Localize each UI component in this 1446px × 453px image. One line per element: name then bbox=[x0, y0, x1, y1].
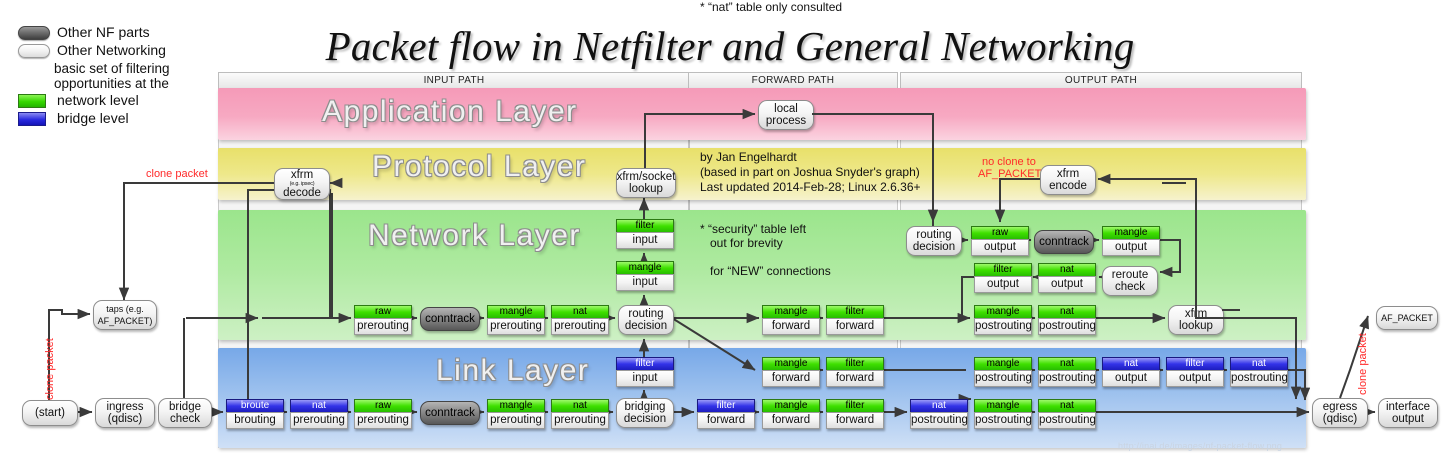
chain-box-table-in-link-filter-input: filter bbox=[616, 357, 674, 370]
edge-broute-up bbox=[248, 190, 274, 399]
node-label-xfrm-decode-line1: xfrm bbox=[291, 169, 313, 181]
edge-routing-to-mangleforward-link bbox=[672, 318, 755, 370]
chain-box-out-link-filter-output: filteroutput bbox=[1166, 357, 1224, 387]
node-label-routing-decision-input-line2: decision bbox=[625, 320, 667, 332]
chain-box-chain-out-net-nat-postrouting: postrouting bbox=[1038, 318, 1096, 335]
chain-box-table-in-link-raw-prerouting: raw bbox=[354, 399, 412, 412]
chain-box-chain-out-net-nat-output: output bbox=[1038, 276, 1096, 293]
node-label-local-process-line1: local bbox=[774, 103, 798, 115]
node-conntrack-input-net: conntrack bbox=[420, 307, 480, 331]
chain-box-chain-fw-net-filter-forward: forward bbox=[826, 318, 884, 335]
node-label-taps-af-packet-line1: taps (e.g. bbox=[106, 303, 144, 315]
chain-box-in-link-mangle-prerouting: mangleprerouting bbox=[487, 399, 545, 429]
chain-box-fw-br-filter-forward: filterforward bbox=[697, 399, 755, 429]
node-local-process: localprocess bbox=[758, 100, 814, 130]
node-xfrm-socket-lookup: xfrm/socketlookup bbox=[616, 168, 676, 198]
chain-box-out-net-nat-output: natoutput bbox=[1038, 263, 1096, 293]
chain-box-chain-out-net-raw-output: output bbox=[971, 239, 1029, 256]
node-routing-decision-output: routingdecision bbox=[906, 226, 962, 256]
chain-box-out-net-mangle-postrouting: manglepostrouting bbox=[974, 305, 1032, 335]
attribution-line2: (based in part on Joshua Snyder's graph) bbox=[700, 165, 920, 179]
chain-box-out-br-mangle-postrouting: manglepostrouting bbox=[974, 399, 1032, 429]
node-label-egress-qdisc-line1: egress bbox=[1323, 401, 1358, 413]
node-taps-af-packet: taps (e.g.AF_PACKET) bbox=[93, 300, 157, 330]
chain-box-chain-out-link-mangle-postrouting: postrouting bbox=[974, 370, 1032, 387]
chain-box-table-out-net-mangle-output: mangle bbox=[1102, 226, 1160, 239]
chain-box-chain-fw-br-mangle-forward: forward bbox=[762, 412, 820, 429]
chain-box-table-out-link-filter-output: filter bbox=[1166, 357, 1224, 370]
chain-box-table-in-net-mangle-prerouting: mangle bbox=[487, 305, 545, 318]
footnote-line1: * “security” table left bbox=[700, 222, 806, 236]
chain-box-chain-in-link-broute-brouting: brouting bbox=[226, 412, 284, 429]
chain-box-chain-out-link-nat-postrouting2: postrouting bbox=[1230, 370, 1288, 387]
chain-box-table-in-net-raw-prerouting: raw bbox=[354, 305, 412, 318]
chain-box-table-out-link-nat-postrouting2: nat bbox=[1230, 357, 1288, 370]
chain-box-in-net-filter-input: filterinput bbox=[616, 219, 674, 249]
node-label-bridge-check-line2: check bbox=[170, 413, 200, 425]
chain-box-in-link-filter-input: filterinput bbox=[616, 357, 674, 387]
node-label-routing-decision-output-line1: routing bbox=[916, 229, 951, 241]
chain-box-chain-out-link-nat-output: output bbox=[1102, 370, 1160, 387]
chain-box-chain-in-link-mangle-prerouting: prerouting bbox=[487, 412, 545, 429]
chain-box-in-link-raw-prerouting: rawprerouting bbox=[354, 399, 412, 429]
chain-box-chain-in-net-filter-input: input bbox=[616, 232, 674, 249]
chain-box-chain-in-link-nat-prerouting2: prerouting bbox=[551, 412, 609, 429]
node-label-egress-qdisc-line2: (qdisc) bbox=[1323, 413, 1358, 425]
chain-box-table-fw-br-filter-forward2: filter bbox=[826, 399, 884, 412]
chain-box-chain-fw-net-mangle-forward: forward bbox=[762, 318, 820, 335]
chain-box-in-net-mangle-input: mangleinput bbox=[616, 261, 674, 291]
chain-box-table-fw-net-filter-forward: filter bbox=[826, 305, 884, 318]
node-label-xfrm-socket-lookup-line2: lookup bbox=[629, 183, 663, 195]
chain-box-chain-out-net-filter-output: output bbox=[974, 276, 1032, 293]
chain-box-chain-in-net-mangle-prerouting: prerouting bbox=[487, 318, 545, 335]
node-label-reroute-check-line1: reroute bbox=[1112, 269, 1148, 281]
chain-box-table-out-net-mangle-postrouting: mangle bbox=[974, 305, 1032, 318]
chain-box-table-out-net-raw-output: raw bbox=[971, 226, 1029, 239]
node-label-xfrm-encode-line2: encode bbox=[1049, 180, 1087, 192]
node-label-bridging-decision-line2: decision bbox=[624, 413, 666, 425]
chain-box-table-in-link-mangle-prerouting: mangle bbox=[487, 399, 545, 412]
node-label-xfrm-decode-line2: decode bbox=[283, 187, 321, 199]
node-label-xfrm-lookup-line2: lookup bbox=[1179, 320, 1213, 332]
node-label-routing-decision-output-line2: decision bbox=[913, 241, 955, 253]
node-label-xfrm-encode-line1: xfrm bbox=[1057, 168, 1079, 180]
node-label-ingress-qdisc-line1: ingress bbox=[106, 401, 143, 413]
node-label-conntrack-output: conntrack bbox=[1039, 236, 1089, 248]
chain-box-out-br-nat-postrouting2: natpostrouting bbox=[1038, 399, 1096, 429]
chain-box-table-out-link-nat-output: nat bbox=[1102, 357, 1160, 370]
node-af-packet-out: AF_PACKET bbox=[1376, 306, 1438, 330]
chain-box-chain-out-br-nat-postrouting2: postrouting bbox=[1038, 412, 1096, 429]
chain-box-chain-out-br-nat-postrouting: postrouting bbox=[910, 412, 968, 429]
chain-box-table-fw-link-mangle-forward: mangle bbox=[762, 357, 820, 370]
node-egress-qdisc: egress(qdisc) bbox=[1312, 398, 1368, 428]
no-clone-label-line1: no clone to bbox=[982, 156, 1036, 168]
chain-box-out-link-nat-postrouting: natpostrouting bbox=[1038, 357, 1096, 387]
node-label-start: (start) bbox=[35, 407, 65, 419]
chain-box-fw-link-mangle-forward: mangleforward bbox=[762, 357, 820, 387]
chain-box-table-out-net-filter-output: filter bbox=[974, 263, 1032, 276]
chain-box-chain-in-link-nat-prerouting: prerouting bbox=[290, 412, 348, 429]
node-bridge-check: bridgecheck bbox=[158, 398, 212, 428]
attribution-line1: by Jan Engelhardt bbox=[700, 150, 797, 164]
footnote-line3: * “nat” table only consulted bbox=[700, 0, 842, 14]
node-reroute-check: reroutecheck bbox=[1102, 266, 1158, 296]
chain-box-table-in-link-nat-prerouting: nat bbox=[290, 399, 348, 412]
chain-box-fw-br-mangle-forward: mangleforward bbox=[762, 399, 820, 429]
chain-box-in-link-broute-brouting: broutebrouting bbox=[226, 399, 284, 429]
chain-box-chain-out-link-nat-postrouting: postrouting bbox=[1038, 370, 1096, 387]
chain-box-table-out-net-nat-postrouting: nat bbox=[1038, 305, 1096, 318]
chain-box-table-in-net-mangle-input: mangle bbox=[616, 261, 674, 274]
attribution-line3: Last updated 2014-Feb-28; Linux 2.6.36+ bbox=[700, 180, 921, 194]
chain-box-out-net-nat-postrouting: natpostrouting bbox=[1038, 305, 1096, 335]
chain-box-table-in-net-filter-input: filter bbox=[616, 219, 674, 232]
chain-box-chain-fw-link-mangle-forward: forward bbox=[762, 370, 820, 387]
chain-box-chain-fw-link-filter-forward: forward bbox=[826, 370, 884, 387]
node-interface-output: interfaceoutput bbox=[1378, 398, 1438, 428]
chain-box-chain-out-link-filter-output: output bbox=[1166, 370, 1224, 387]
edge-mangleoutput-to-reroute bbox=[1160, 240, 1180, 272]
chain-box-chain-fw-br-filter-forward2: forward bbox=[826, 412, 884, 429]
node-conntrack-input-link: conntrack bbox=[420, 401, 480, 425]
chain-box-in-link-nat-prerouting: natprerouting bbox=[290, 399, 348, 429]
chain-box-chain-out-net-mangle-output: output bbox=[1102, 239, 1160, 256]
node-label-interface-output-line2: output bbox=[1392, 413, 1424, 425]
chain-box-table-fw-link-filter-forward: filter bbox=[826, 357, 884, 370]
chain-box-fw-link-filter-forward: filterforward bbox=[826, 357, 884, 387]
chain-box-chain-fw-br-filter-forward: forward bbox=[697, 412, 755, 429]
node-xfrm-encode: xfrmencode bbox=[1040, 165, 1096, 195]
clone-packet-label-right: clone packet bbox=[1357, 333, 1369, 395]
node-xfrm-lookup: xfrmlookup bbox=[1168, 305, 1224, 335]
chain-box-out-net-filter-output: filteroutput bbox=[974, 263, 1032, 293]
chain-box-chain-in-net-nat-prerouting: prerouting bbox=[551, 318, 609, 335]
chain-box-chain-in-link-filter-input: input bbox=[616, 370, 674, 387]
chain-box-table-in-net-nat-prerouting: nat bbox=[551, 305, 609, 318]
edge-filteroutput-to-manglepostrouting bbox=[962, 277, 974, 318]
node-routing-decision-input: routingdecision bbox=[618, 305, 674, 335]
chain-box-out-link-mangle-postrouting: manglepostrouting bbox=[974, 357, 1032, 387]
node-bridging-decision: bridgingdecision bbox=[616, 398, 674, 428]
node-start: (start) bbox=[22, 400, 78, 426]
chain-box-in-net-raw-prerouting: rawprerouting bbox=[354, 305, 412, 335]
chain-box-table-out-br-mangle-postrouting: mangle bbox=[974, 399, 1032, 412]
chain-box-in-net-mangle-prerouting: mangleprerouting bbox=[487, 305, 545, 335]
chain-box-out-link-nat-postrouting2: natpostrouting bbox=[1230, 357, 1288, 387]
node-label-xfrm-lookup-line1: xfrm bbox=[1185, 308, 1207, 320]
chain-box-chain-in-net-raw-prerouting: prerouting bbox=[354, 318, 412, 335]
footnote-line2: out for brevity bbox=[700, 236, 783, 250]
node-label-local-process-line2: process bbox=[766, 115, 806, 127]
chain-box-out-net-raw-output: rawoutput bbox=[971, 226, 1029, 256]
edge-natpost-link-to-egress bbox=[1288, 370, 1305, 400]
chain-box-table-out-br-nat-postrouting: nat bbox=[910, 399, 968, 412]
node-xfrm-decode: xfrm(e.g. ipsec)decode bbox=[274, 168, 330, 200]
chain-box-chain-out-net-mangle-postrouting: postrouting bbox=[974, 318, 1032, 335]
clone-packet-label-top-left: clone packet bbox=[146, 168, 208, 180]
node-label-xfrm-socket-lookup-line1: xfrm/socket bbox=[617, 171, 676, 183]
diagram-canvas: INPUT PATH FORWARD PATH OUTPUT PATH Appl… bbox=[0, 0, 1446, 453]
node-label-reroute-check-line2: check bbox=[1115, 281, 1145, 293]
node-ingress-qdisc: ingress(qdisc) bbox=[95, 398, 155, 428]
node-label-ingress-qdisc-line2: (qdisc) bbox=[108, 413, 143, 425]
chain-box-table-out-link-nat-postrouting: nat bbox=[1038, 357, 1096, 370]
chain-box-chain-in-net-mangle-input: input bbox=[616, 274, 674, 291]
clone-packet-label-left: clone packet bbox=[44, 338, 56, 400]
chain-box-out-br-nat-postrouting: natpostrouting bbox=[910, 399, 968, 429]
chain-box-out-net-mangle-output: mangleoutput bbox=[1102, 226, 1160, 256]
chain-box-table-fw-br-filter-forward: filter bbox=[697, 399, 755, 412]
node-label-af-packet-out: AF_PACKET bbox=[1381, 312, 1433, 324]
node-label-conntrack-input-link: conntrack bbox=[425, 407, 475, 419]
chain-box-out-link-nat-output: natoutput bbox=[1102, 357, 1160, 387]
chain-box-fw-net-mangle-forward: mangleforward bbox=[762, 305, 820, 335]
chain-box-in-link-nat-prerouting2: natprerouting bbox=[551, 399, 609, 429]
node-label-routing-decision-input-line1: routing bbox=[628, 308, 663, 320]
footnote-line4: for “NEW” connections bbox=[700, 264, 831, 278]
chain-box-chain-in-link-raw-prerouting: prerouting bbox=[354, 412, 412, 429]
node-label-bridge-check-line1: bridge bbox=[169, 401, 201, 413]
chain-box-table-fw-br-mangle-forward: mangle bbox=[762, 399, 820, 412]
edge-netentry-to-xfrmdecode bbox=[320, 190, 330, 318]
chain-box-table-out-net-nat-output: nat bbox=[1038, 263, 1096, 276]
chain-box-in-net-nat-prerouting: natprerouting bbox=[551, 305, 609, 335]
node-conntrack-output: conntrack bbox=[1034, 230, 1094, 254]
chain-box-table-fw-net-mangle-forward: mangle bbox=[762, 305, 820, 318]
chain-box-table-out-br-nat-postrouting2: nat bbox=[1038, 399, 1096, 412]
chain-box-table-out-link-mangle-postrouting: mangle bbox=[974, 357, 1032, 370]
no-clone-label-line2: AF_PACKET bbox=[978, 168, 1041, 180]
chain-box-table-in-link-broute-brouting: broute bbox=[226, 399, 284, 412]
chain-box-table-in-link-nat-prerouting2: nat bbox=[551, 399, 609, 412]
node-label-bridging-decision-line1: bridging bbox=[625, 401, 666, 413]
chain-box-chain-out-br-mangle-postrouting: postrouting bbox=[974, 412, 1032, 429]
chain-box-fw-net-filter-forward: filterforward bbox=[826, 305, 884, 335]
node-label-conntrack-input-net: conntrack bbox=[425, 313, 475, 325]
node-label-taps-af-packet-line2: AF_PACKET) bbox=[98, 315, 153, 327]
chain-box-fw-br-filter-forward2: filterforward bbox=[826, 399, 884, 429]
node-label-interface-output-line1: interface bbox=[1386, 401, 1430, 413]
